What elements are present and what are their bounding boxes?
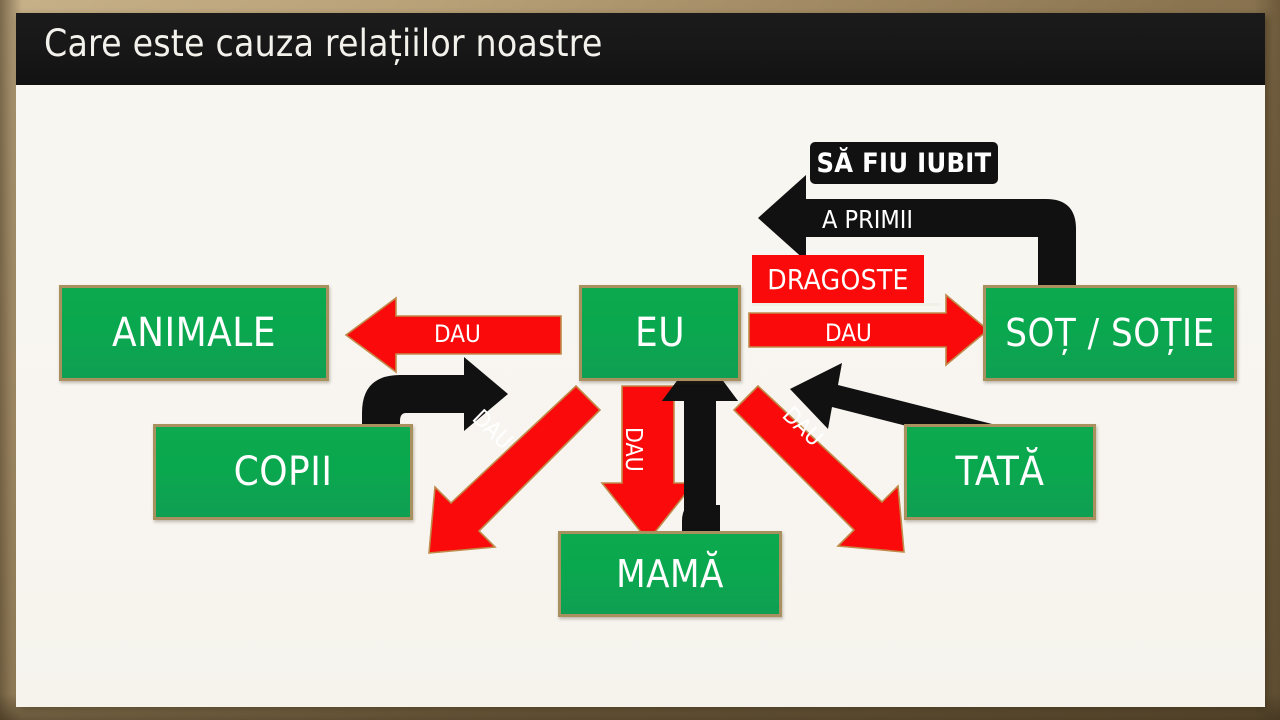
node-sot-sotie[interactable]: SOȚ / SOȚIE <box>983 285 1237 381</box>
node-sot-sotie-label: SOȚ / SOȚIE <box>1005 312 1214 354</box>
page-title: Care este cauza relațiilor noastre <box>44 24 603 64</box>
node-copii-label: COPII <box>234 451 333 493</box>
arrow-label-dau-sot: DAU <box>825 319 872 347</box>
node-tata[interactable]: TATĂ <box>904 424 1096 520</box>
arrow-eu-to-mama <box>602 386 694 541</box>
chip-divider <box>752 303 940 306</box>
node-animale-label: ANIMALE <box>112 312 276 354</box>
arrow-label-dau-animale: DAU <box>434 320 481 348</box>
arrow-label-dau-mama: DAU <box>620 427 646 472</box>
label-dragoste-text: DRAGOSTE <box>767 263 909 296</box>
slide-canvas: ANIMALE EU SOȚ / SOȚIE COPII TATĂ MAMĂ S… <box>16 13 1265 707</box>
arrow-label-a-primii: A PRIMII <box>822 205 913 234</box>
label-sa-fiu-iubit: SĂ FIU IUBIT <box>810 142 998 184</box>
node-copii[interactable]: COPII <box>153 424 413 520</box>
node-mama[interactable]: MAMĂ <box>558 531 782 617</box>
node-mama-label: MAMĂ <box>616 553 724 595</box>
node-eu-label: EU <box>635 312 685 354</box>
label-dragoste: DRAGOSTE <box>752 255 924 303</box>
node-animale[interactable]: ANIMALE <box>59 285 329 381</box>
label-sa-fiu-iubit-text: SĂ FIU IUBIT <box>816 148 991 179</box>
slide-frame: ANIMALE EU SOȚ / SOȚIE COPII TATĂ MAMĂ S… <box>0 0 1280 720</box>
node-eu[interactable]: EU <box>579 285 741 381</box>
node-tata-label: TATĂ <box>956 451 1045 493</box>
